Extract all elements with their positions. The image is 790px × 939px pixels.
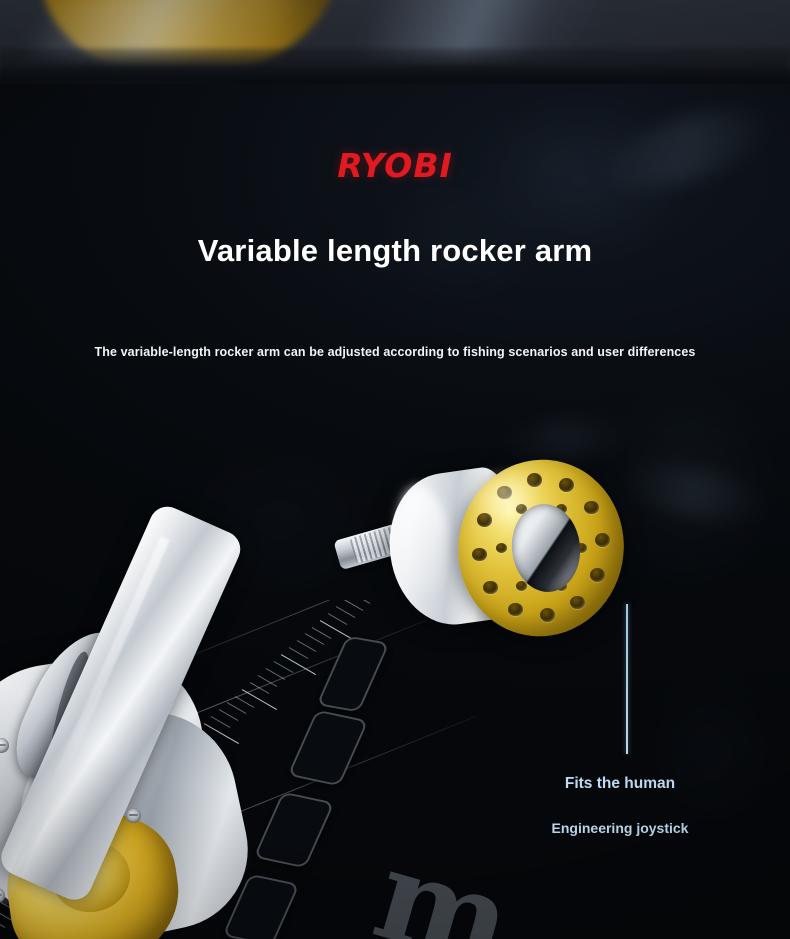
callout-line-1: Fits the human [450,775,790,793]
knob-hole [570,596,585,610]
knob-hole [559,478,574,492]
product-banner: m RYOBI Variable length [0,0,790,939]
knob-hole [590,568,605,582]
arm-cutout [222,874,300,939]
arm-cutout [287,710,368,787]
strip-fade [0,64,790,84]
knob-hole [584,501,599,515]
knob-hole [472,548,487,562]
previous-image-strip [0,0,790,84]
arm-cutout [253,792,334,869]
handle-knob-assembly [336,452,616,682]
subtitle: The variable-length rocker arm can be ad… [0,345,790,359]
knob-hole [483,581,498,595]
knob-hole [516,581,527,591]
page-title: Variable length rocker arm [0,233,790,269]
callout-line-2: Engineering joystick [450,820,790,836]
screw-icon [126,808,141,823]
brand-logo: RYOBI [0,146,790,185]
knob-hole [540,608,555,622]
knob-hole [595,533,610,547]
knob-hole [508,603,523,617]
knob-rim-highlight [464,466,544,526]
callout-connector-line [626,604,628,754]
knob-hole [496,543,507,553]
